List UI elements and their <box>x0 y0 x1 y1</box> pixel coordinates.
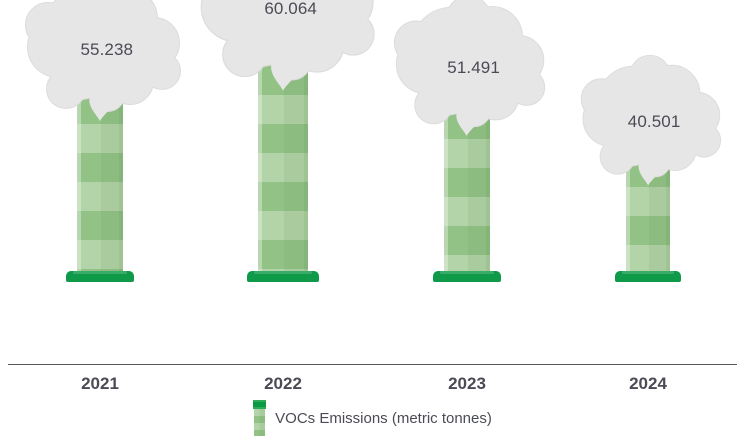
column-edge-right <box>486 81 490 282</box>
stack-base <box>615 271 681 282</box>
column-edge-left <box>77 66 81 282</box>
stack-cap <box>432 51 502 81</box>
voc-emissions-chart: 55.23860.06451.49140.501 202120222023202… <box>0 0 745 448</box>
column-edge-left <box>444 81 448 282</box>
legend-flange-top <box>253 400 266 402</box>
stack-cap <box>65 36 135 66</box>
cap-highlight <box>77 43 90 59</box>
stack-cap <box>614 99 682 129</box>
smokestack-icon <box>253 400 266 436</box>
category-label-2021: 2021 <box>55 374 145 394</box>
stack-cap <box>246 7 320 37</box>
cap-highlight <box>626 106 639 122</box>
cap-flange-bottom <box>432 74 502 81</box>
cap-band <box>251 14 315 30</box>
cap-flange-bottom <box>65 59 135 66</box>
stack-column <box>626 129 670 282</box>
plot-area: 55.23860.06451.49140.501 <box>0 0 745 366</box>
base-highlight <box>622 271 675 274</box>
column-edge-left <box>626 129 630 282</box>
cap-band <box>70 43 130 59</box>
cap-flange-bottom <box>614 122 682 129</box>
cap-shadow <box>657 106 677 122</box>
category-label-2023: 2023 <box>422 374 512 394</box>
base-highlight <box>440 271 494 274</box>
category-label-2024: 2024 <box>603 374 693 394</box>
cap-highlight <box>444 58 457 74</box>
cap-band <box>437 58 497 74</box>
base-highlight <box>254 271 312 274</box>
smokestack-bar <box>614 99 682 282</box>
column-edge-left <box>258 37 262 282</box>
chart-legend: VOCs Emissions (metric tonnes) <box>0 400 745 436</box>
cap-flange-top <box>65 36 135 43</box>
base-highlight <box>73 271 127 274</box>
stack-column <box>258 37 308 282</box>
stack-base <box>433 271 501 282</box>
cap-shadow <box>293 14 315 30</box>
cap-highlight <box>259 14 273 30</box>
category-label-2022: 2022 <box>238 374 328 394</box>
cap-flange-top <box>614 99 682 106</box>
stack-column <box>77 66 123 282</box>
cap-band <box>619 106 677 122</box>
cap-flange-bottom <box>246 30 320 37</box>
smokestack-bar <box>432 51 502 282</box>
stack-base <box>66 271 134 282</box>
x-axis-line <box>8 364 737 365</box>
cap-shadow <box>477 58 497 74</box>
legend-flange-bottom <box>253 407 266 409</box>
column-edge-right <box>119 66 123 282</box>
legend-label: VOCs Emissions (metric tonnes) <box>275 410 492 427</box>
legend-column <box>254 409 265 436</box>
cap-shadow <box>110 43 130 59</box>
smokestack-bar <box>246 7 320 282</box>
smokestack-bar <box>65 36 135 282</box>
column-edge-right <box>666 129 670 282</box>
stack-base <box>247 271 319 282</box>
stack-column <box>444 81 490 282</box>
column-edge-right <box>304 37 308 282</box>
cap-flange-top <box>432 51 502 58</box>
cap-flange-top <box>246 7 320 14</box>
